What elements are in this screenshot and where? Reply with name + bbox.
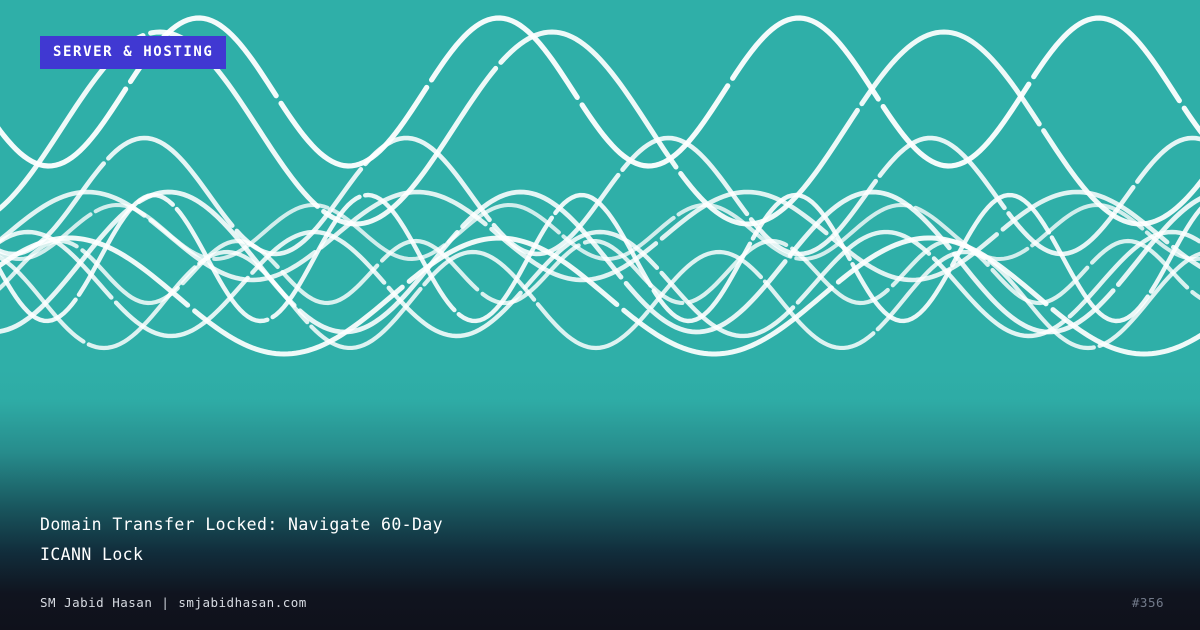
headline-line-1: Domain Transfer Locked: Navigate 60-Day <box>40 515 443 534</box>
social-card: SERVER & HOSTING Domain Transfer Locked:… <box>0 0 1200 630</box>
author-name: SM Jabid Hasan <box>40 595 152 610</box>
page-title: Domain Transfer Locked: Navigate 60-Day … <box>40 510 860 570</box>
site-url: smjabidhasan.com <box>178 595 306 610</box>
category-badge: SERVER & HOSTING <box>40 36 226 69</box>
byline-separator: | <box>152 595 178 610</box>
footer: SM Jabid Hasan|smjabidhasan.com #356 <box>40 595 1164 610</box>
issue-number: #356 <box>1132 595 1164 610</box>
headline-line-2: ICANN Lock <box>40 545 143 564</box>
byline: SM Jabid Hasan|smjabidhasan.com <box>40 595 307 610</box>
